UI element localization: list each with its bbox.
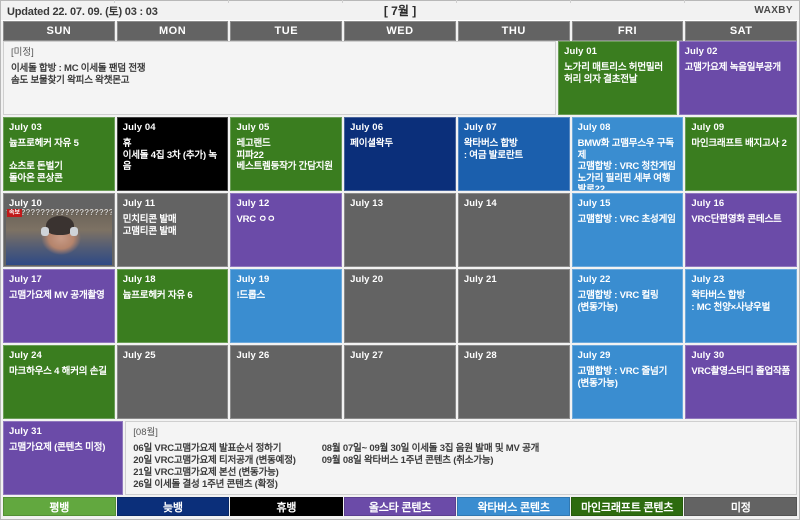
- day-number: July 26: [236, 350, 337, 361]
- weekday-mon: MON: [117, 21, 229, 41]
- calendar-app: Updated 22. 07. 09. (토) 03 : 03 [ 7월 ] W…: [0, 0, 800, 520]
- day-number: July 11: [123, 198, 224, 209]
- day-events: 고맴가요제 MV 공개촬영: [9, 290, 110, 302]
- day-cell-july-26[interactable]: July 26: [230, 345, 342, 419]
- day-number: July 12: [236, 198, 337, 209]
- day-cell-july-01[interactable]: July 01 노가리 매트리스 허먼밀러 허리 의자 결초전날: [558, 41, 676, 115]
- day-cell-july-08[interactable]: July 08 BMW화 고맴무스우 구독제 고맴합방 : VRC 청찬게임 노…: [572, 117, 684, 191]
- day-cell-july-21[interactable]: July 21: [458, 269, 570, 343]
- weekday-sun: SUN: [3, 21, 115, 41]
- day-number: July 22: [578, 274, 679, 285]
- day-number: July 06: [350, 122, 451, 133]
- bottom-notes-cell[interactable]: [08월] 06일 VRC고맴가요제 발표순서 정하기 20일 VRC고맴가요제…: [125, 421, 797, 495]
- bottom-notes-title: [08월]: [133, 427, 789, 439]
- day-number: July 04: [123, 122, 224, 133]
- day-number: July 01: [564, 46, 671, 57]
- legend-item-minecraft-content[interactable]: 마인크래프트 콘텐츠: [571, 497, 684, 516]
- day-number: July 30: [691, 350, 792, 361]
- day-events: VRC ㅇㅇ: [236, 214, 337, 226]
- day-cell-july-17[interactable]: July 17 고맴가요제 MV 공개촬영: [3, 269, 115, 343]
- day-events: 왁타버스 합방 : MC 천양×사냥우벌: [691, 290, 792, 313]
- day-cell-july-31[interactable]: July 31 고맴가요제 (콘텐츠 미정): [3, 421, 123, 495]
- day-events: BMW화 고맴무스우 구독제 고맴합방 : VRC 청찬게임 노가리 필리핀 세…: [578, 138, 679, 191]
- day-cell-july-02[interactable]: July 02 고맴가요제 녹음일부공개: [679, 41, 797, 115]
- updated-timestamp: Updated 22. 07. 09. (토) 03 : 03: [7, 3, 158, 19]
- top-notes-body: 이세돌 합방 : MC 이세돌 팬덤 전쟁 솜도 보물찾기 왁피스 왁챗몬고: [11, 63, 548, 87]
- day-number: July 14: [464, 198, 565, 209]
- day-number: July 15: [578, 198, 679, 209]
- day-number: July 10: [9, 198, 110, 209]
- day-number: July 16: [691, 198, 792, 209]
- day-events: 휴 이세돌 4집 3차 (추가) 녹음: [123, 138, 224, 173]
- tab-separators: [1, 0, 799, 3]
- legend-item-undecided[interactable]: 미정: [684, 497, 797, 516]
- day-cell-july-23[interactable]: July 23 왁타버스 합방 : MC 천양×사냥우벌: [685, 269, 797, 343]
- day-cell-july-18[interactable]: July 18 늅프로헤커 자유 6: [117, 269, 229, 343]
- day-cell-july-25[interactable]: July 25: [117, 345, 229, 419]
- weekday-thu: THU: [458, 21, 570, 41]
- legend-item-allstar-content[interactable]: 올스타 콘텐츠: [344, 497, 457, 516]
- week-row-5: July 24 마크하우스 4 해커의 손길 July 25 July 26 J…: [3, 345, 797, 419]
- week-row-4: July 17 고맴가요제 MV 공개촬영 July 18 늅프로헤커 자유 6…: [3, 269, 797, 343]
- day-events: 노가리 매트리스 허먼밀러 허리 의자 결초전날: [564, 62, 671, 85]
- day-events: 왁타버스 합방 : 여금 발로란트: [464, 138, 565, 161]
- day-events: 고맴합방 : VRC 줄넘기 (변동가능): [578, 366, 679, 389]
- day-number: July 25: [123, 350, 224, 361]
- day-cell-july-14[interactable]: July 14: [458, 193, 570, 267]
- day-number: July 28: [464, 350, 565, 361]
- day-events: 마크하우스 4 해커의 손길: [9, 366, 110, 378]
- top-notes-cell[interactable]: [미정] 이세돌 합방 : MC 이세돌 팬덤 전쟁 솜도 보물찾기 왁피스 왁…: [3, 41, 556, 115]
- weekday-fri: FRI: [572, 21, 684, 41]
- bottom-notes-left: 06일 VRC고맴가요제 발표순서 정하기 20일 VRC고맴가요제 티저공개 …: [133, 443, 295, 491]
- legend-item-early-stream[interactable]: 평뱅: [3, 497, 116, 516]
- day-cell-july-28[interactable]: July 28: [458, 345, 570, 419]
- day-cell-july-15[interactable]: July 15 고맴합방 : VRC 초성게임: [572, 193, 684, 267]
- day-cell-july-05[interactable]: July 05 레고랜드 피파22 베스트렘둥작가 간담지원: [230, 117, 342, 191]
- day-events: !드롭스: [236, 290, 337, 302]
- day-number: July 07: [464, 122, 565, 133]
- day-cell-july-04[interactable]: July 04 휴 이세돌 4집 3차 (추가) 녹음: [117, 117, 229, 191]
- week-row-3: July 10 ????????????????????????????????…: [3, 193, 797, 267]
- day-events: VRC단편영화 콘테스트: [691, 214, 792, 226]
- bottom-notes-right: 08월 07일~ 09월 30일 이세돌 3집 음원 발매 및 MV 공개 09…: [322, 443, 539, 491]
- day-number: July 31: [9, 426, 118, 437]
- weekday-wed: WED: [344, 21, 456, 41]
- day-cell-july-24[interactable]: July 24 마크하우스 4 해커의 손길: [3, 345, 115, 419]
- day-cell-july-22[interactable]: July 22 고맴합방 : VRC 컬링 (변동가능): [572, 269, 684, 343]
- top-notes-title: [미정]: [11, 47, 548, 59]
- day-cell-july-20[interactable]: July 20: [344, 269, 456, 343]
- day-number: July 05: [236, 122, 337, 133]
- day-events: 페이셜왁두: [350, 138, 451, 150]
- day-number: July 20: [350, 274, 451, 285]
- breaking-news-badge: 속보: [7, 209, 22, 217]
- day-number: July 08: [578, 122, 679, 133]
- day-number: July 03: [9, 122, 110, 133]
- day-cell-july-16[interactable]: July 16 VRC단편영화 콘테스트: [685, 193, 797, 267]
- day-number: July 27: [350, 350, 451, 361]
- day-events: VRC촬영스터디 졸업작품: [691, 366, 792, 378]
- weekday-header-row: SUN MON TUE WED THU FRI SAT: [1, 21, 799, 41]
- day-events: 민치티콘 발매 고맴티콘 발매: [123, 214, 224, 237]
- legend-item-late-stream[interactable]: 늦뱅: [117, 497, 230, 516]
- day-number: July 19: [236, 274, 337, 285]
- day-cell-july-07[interactable]: July 07 왁타버스 합방 : 여금 발로란트: [458, 117, 570, 191]
- question-mark-overlay: ????????????????????????????????????????…: [6, 209, 112, 265]
- week-row-6: July 31 고맴가요제 (콘텐츠 미정) [08월] 06일 VRC고맴가요…: [3, 421, 797, 495]
- day-number: July 24: [9, 350, 110, 361]
- weekday-tue: TUE: [230, 21, 342, 41]
- day-cell-july-30[interactable]: July 30 VRC촬영스터디 졸업작품: [685, 345, 797, 419]
- legend-item-waktaverse-content[interactable]: 왁타버스 콘텐츠: [457, 497, 570, 516]
- day-events: 레고랜드 피파22 베스트렘둥작가 간담지원: [236, 138, 337, 173]
- day-cell-july-19[interactable]: July 19 !드롭스: [230, 269, 342, 343]
- day-number: July 02: [685, 46, 792, 57]
- week-row-2: July 03 늅프로헤커 자유 5 쇼츠로 돈벌기 돌아온 콘상콘 July …: [3, 117, 797, 191]
- top-bar: Updated 22. 07. 09. (토) 03 : 03 [ 7월 ] W…: [1, 1, 799, 21]
- day-number: July 23: [691, 274, 792, 285]
- day-events: 늅프로헤커 자유 6: [123, 290, 224, 302]
- day-cell-july-13[interactable]: July 13: [344, 193, 456, 267]
- legend-item-rest-day[interactable]: 휴뱅: [230, 497, 343, 516]
- calendar-grid: [미정] 이세돌 합방 : MC 이세돌 팬덤 전쟁 솜도 보물찾기 왁피스 왁…: [1, 41, 799, 495]
- day-cell-july-11[interactable]: July 11 민치티콘 발매 고맴티콘 발매: [117, 193, 229, 267]
- legend-bar: 평뱅 늦뱅 휴뱅 올스타 콘텐츠 왁타버스 콘텐츠 마인크래프트 콘텐츠 미정: [1, 495, 799, 519]
- day-events: 마인크래프트 배지고사 2: [691, 138, 792, 150]
- day-cell-july-09[interactable]: July 09 마인크래프트 배지고사 2: [685, 117, 797, 191]
- day-thumbnail[interactable]: ????????????????????????????????????????…: [6, 209, 112, 265]
- day-events: 고맴가요제 녹음일부공개: [685, 62, 792, 74]
- day-number: July 09: [691, 122, 792, 133]
- day-number: July 18: [123, 274, 224, 285]
- brand-label: WAXBY: [754, 5, 793, 16]
- day-number: July 13: [350, 198, 451, 209]
- day-cell-july-03[interactable]: July 03 늅프로헤커 자유 5 쇼츠로 돈벌기 돌아온 콘상콘: [3, 117, 115, 191]
- day-cell-july-06[interactable]: July 06 페이셜왁두: [344, 117, 456, 191]
- day-number: July 21: [464, 274, 565, 285]
- day-cell-july-10[interactable]: July 10 ????????????????????????????????…: [3, 193, 115, 267]
- day-events: 고맴합방 : VRC 컬링 (변동가능): [578, 290, 679, 313]
- day-events: 고맴합방 : VRC 초성게임: [578, 214, 679, 226]
- week-row-1: [미정] 이세돌 합방 : MC 이세돌 팬덤 전쟁 솜도 보물찾기 왁피스 왁…: [3, 41, 797, 115]
- day-number: July 17: [9, 274, 110, 285]
- day-cell-july-29[interactable]: July 29 고맴합방 : VRC 줄넘기 (변동가능): [572, 345, 684, 419]
- weekday-sat: SAT: [685, 21, 797, 41]
- day-number: July 29: [578, 350, 679, 361]
- day-cell-july-12[interactable]: July 12 VRC ㅇㅇ: [230, 193, 342, 267]
- day-events: 고맴가요제 (콘텐츠 미정): [9, 442, 118, 454]
- day-events: 늅프로헤커 자유 5 쇼츠로 돈벌기 돌아온 콘상콘: [9, 138, 110, 184]
- day-cell-july-27[interactable]: July 27: [344, 345, 456, 419]
